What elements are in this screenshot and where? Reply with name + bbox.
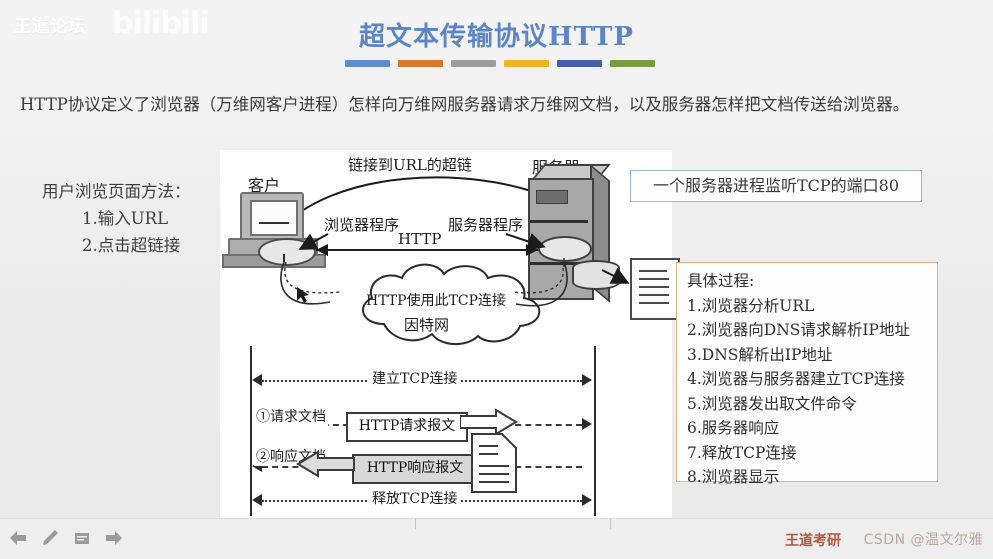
- title-color-bars: [345, 60, 655, 67]
- browse-method-item-1: 1.输入URL: [42, 205, 222, 232]
- server-lifeline: [594, 346, 596, 516]
- title-bar-3: [451, 60, 496, 67]
- browse-method-block: 用户浏览页面方法： 1.输入URL 2.点击超链接: [42, 178, 222, 259]
- title-bar-1: [345, 60, 390, 67]
- brand-watermark: 王道考研: [785, 530, 841, 550]
- process-step-3: 3.DNS解析出IP地址: [687, 343, 937, 368]
- process-step-7: 7.释放TCP连接: [687, 441, 937, 466]
- intro-paragraph: HTTP协议定义了浏览器（万维网客户进程）怎样向万维网服务器请求万维网文档，以及…: [20, 92, 975, 118]
- http-request-message-box: HTTP请求报文: [346, 412, 468, 442]
- browse-method-heading: 用户浏览页面方法：: [42, 178, 222, 205]
- establish-tcp-arrow-left: [252, 374, 262, 386]
- title-bar-6: [610, 60, 655, 67]
- process-step-6: 6.服务器响应: [687, 416, 937, 441]
- process-step-2: 2.浏览器向DNS请求解析IP地址: [687, 318, 937, 343]
- process-step-8: 8.浏览器显示: [687, 465, 937, 490]
- port-callout: 一个服务器进程监听TCP的端口80: [630, 170, 922, 202]
- request-doc-arrow: [582, 418, 592, 430]
- tick-left: [415, 519, 416, 529]
- server-to-doc-arrow: [220, 150, 672, 350]
- title-bar-4: [504, 60, 549, 67]
- nav-icon-group[interactable]: [8, 528, 124, 548]
- pencil-icon[interactable]: [40, 528, 60, 548]
- tick-right: [610, 519, 611, 529]
- csdn-watermark: CSDN @温文尔雅: [864, 529, 983, 549]
- process-step-4: 4.浏览器与服务器建立TCP连接: [687, 367, 937, 392]
- release-tcp-arrow-right: [582, 494, 592, 506]
- process-step-5: 5.浏览器发出取文件命令: [687, 392, 937, 417]
- process-steps-title: 具体过程:: [687, 269, 937, 294]
- title-bar-2: [398, 60, 443, 67]
- forward-arrow-icon[interactable]: [104, 528, 124, 548]
- title-bar-5: [557, 60, 602, 67]
- client-lifeline: [250, 346, 252, 516]
- note-icon[interactable]: [72, 528, 92, 548]
- process-steps-callout: 具体过程: 1.浏览器分析URL 2.浏览器向DNS请求解析IP地址 3.DNS…: [676, 262, 938, 482]
- slide-root: 王道论坛 bilibili 超文本传输协议HTTP HTTP协议定义了浏览器（万…: [0, 0, 993, 559]
- establish-tcp-arrow-right: [582, 374, 592, 386]
- release-tcp-arrow-left: [252, 494, 262, 506]
- response-block-arrow-icon: [296, 450, 356, 484]
- response-document-icon: [470, 432, 518, 494]
- establish-tcp-label: 建立TCP连接: [368, 368, 461, 388]
- browse-method-item-2: 2.点击超链接: [42, 232, 222, 259]
- process-step-1: 1.浏览器分析URL: [687, 294, 937, 319]
- bottom-toolbar: 王道考研 CSDN @温文尔雅: [0, 518, 993, 559]
- http-diagram: 链接到URL的超链 客户 服务器: [220, 150, 672, 520]
- back-arrow-icon[interactable]: [8, 528, 28, 548]
- http-response-message-box: HTTP响应报文: [352, 454, 478, 484]
- page-title: 超文本传输协议HTTP: [0, 16, 993, 53]
- request-doc-label: ①请求文档: [254, 406, 328, 426]
- release-tcp-label: 释放TCP连接: [368, 488, 461, 508]
